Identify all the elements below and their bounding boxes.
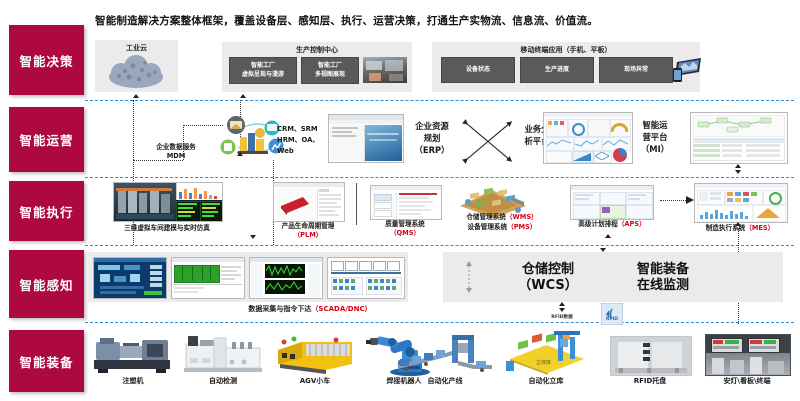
rfid-uplink-arrow <box>559 302 565 306</box>
apps-uplink-arrow <box>237 152 243 156</box>
qms-screenshot <box>370 185 442 220</box>
qms-caption: 质量管理系统 （QMS） <box>368 220 442 238</box>
wms-pms-caption: 仓储管理系统（WMS） 设备管理系统（PMS） <box>442 213 562 233</box>
aps-caption: 高级计划排程（APS） <box>566 220 658 229</box>
online-monitoring-caption: 智能装备 在线监测 <box>608 262 718 295</box>
flow-table-downlink-arrow <box>735 170 741 174</box>
device-status-button[interactable]: 设备状态 <box>441 57 515 83</box>
rfid-downlink-arrow <box>559 308 565 312</box>
mi-dashboard-screenshot <box>543 112 633 164</box>
control-center-uplink-arrow <box>240 94 246 98</box>
equipment-label-5: 自动化立库 <box>500 377 592 386</box>
layer-label-decision[interactable]: 智能决策 <box>9 25 84 95</box>
equipment-label-7: 安灯\看板\终端 <box>703 377 791 386</box>
svg-text:立体库: 立体库 <box>536 359 551 366</box>
smart-factory-multiview-button[interactable]: 智能工厂 多视图展现 <box>301 57 359 84</box>
plm-caption: 产品生命周期管理 （PLM） <box>265 222 351 240</box>
auto-inspection-machine-icon <box>182 332 264 374</box>
layer-label-execution[interactable]: 智能执行 <box>9 181 84 241</box>
aps-to-mes-arrowhead <box>686 196 694 204</box>
scada-panel <box>88 252 408 302</box>
plm-downlink-arrow <box>250 235 256 239</box>
equipment-label-4: 自动化产线 <box>400 377 490 386</box>
equipment-label-6: RFID托盘 <box>608 377 692 386</box>
business-apps-caption: CRM、SRM HRM、OA、 Web <box>277 124 325 157</box>
mobile-terminal-title: 移动终端应用（手机、平板） <box>432 45 700 55</box>
scada-wave-3 <box>249 257 323 299</box>
layer-label-equipment[interactable]: 智能装备 <box>9 330 84 392</box>
wcs-bidirectional-arrow <box>465 261 473 293</box>
scada-trend-2 <box>171 257 245 299</box>
industrial-cloud-panel: 工业云 <box>95 40 178 92</box>
automated-production-line-icon <box>396 333 496 377</box>
rfid-icon-label: RFID <box>598 317 626 322</box>
mdm-caption: 企业数据服务 MDM <box>140 143 212 161</box>
layer-label-perception[interactable]: 智能感知 <box>9 250 84 318</box>
rfid-pallet-photo <box>610 336 692 376</box>
cross-arrows-icon <box>460 118 516 166</box>
production-progress-button[interactable]: 生产进度 <box>520 57 594 83</box>
scada-hmi-1 <box>93 257 167 299</box>
cloud-uplink-arrow <box>133 94 139 98</box>
rfid-data-label: RFID数据 <box>538 314 586 320</box>
injection-molding-machine-icon <box>90 332 176 374</box>
page-title: 智能制造解决方案整体框架，覆盖设备层、感知层、执行、运营决策，打通生产实物流、信… <box>95 13 705 28</box>
cloud-icon <box>95 52 178 92</box>
flow-table-screenshot <box>690 112 788 164</box>
agv-cart-icon <box>272 334 358 376</box>
aps-screenshot <box>570 185 654 220</box>
production-control-panel: 生产控制中心 智能工厂 虚拟呈现与漫游 智能工厂 多视图展现 <box>222 42 412 92</box>
row-separator-4 <box>85 322 794 323</box>
scada-net-4 <box>327 257 405 299</box>
aps-to-mes-connector <box>660 200 686 201</box>
aps-uplink-arrow <box>605 234 611 238</box>
layer-label-operation[interactable]: 智能运营 <box>9 107 84 172</box>
equipment-label-2: AGV小车 <box>272 377 358 386</box>
framework-diagram: 智能制造解决方案整体框架，覆盖设备层、感知层、执行、运营决策，打通生产实物流、信… <box>0 0 800 401</box>
wcs-monitor-panel: 仓储控制 （WCS） 智能装备 在线监测 <box>443 252 783 302</box>
wcs-caption: 仓储控制 （WCS） <box>493 262 603 295</box>
control-room-photo <box>363 57 407 83</box>
mi-caption: 智能运 营平台 （MI） <box>634 119 676 156</box>
scada-caption: 数据采集与指令下达（SCADA/DNC） <box>215 305 405 314</box>
erp-caption: 企业资源 规划 （ERP） <box>406 120 458 157</box>
andon-board-terminal-photo <box>705 334 791 376</box>
mes-uplink-arrow <box>735 222 741 226</box>
production-control-title: 生产控制中心 <box>222 45 412 55</box>
connector-cloud-vertical <box>133 100 134 160</box>
3d-workshop-screenshot <box>113 182 223 222</box>
smart-factory-vr-button[interactable]: 智能工厂 虚拟呈现与漫游 <box>229 57 297 84</box>
row-separator-1 <box>85 100 794 101</box>
site-abnormal-button[interactable]: 现场异常 <box>599 57 673 83</box>
monitor-downlink-arrow <box>600 248 606 252</box>
row-separator-2 <box>85 177 794 178</box>
execution-divider <box>356 183 357 225</box>
automated-warehouse-icon: 立体库 <box>500 331 592 377</box>
mes-screenshot <box>694 183 788 223</box>
erp-screenshot <box>328 114 404 163</box>
tablet-phone-photo <box>673 56 703 82</box>
plm-screenshot <box>273 182 345 222</box>
equipment-label-0: 注塑机 <box>90 377 176 386</box>
mobile-terminal-panel: 移动终端应用（手机、平板） 设备状态 生产进度 现场异常 <box>432 42 700 92</box>
flow-table-uplink-arrow <box>735 164 741 168</box>
workshop-caption: 三维虚拟车间建模与实时仿真 <box>110 224 224 233</box>
row-separator-3 <box>85 245 794 246</box>
equipment-label-1: 自动检测 <box>182 377 264 386</box>
